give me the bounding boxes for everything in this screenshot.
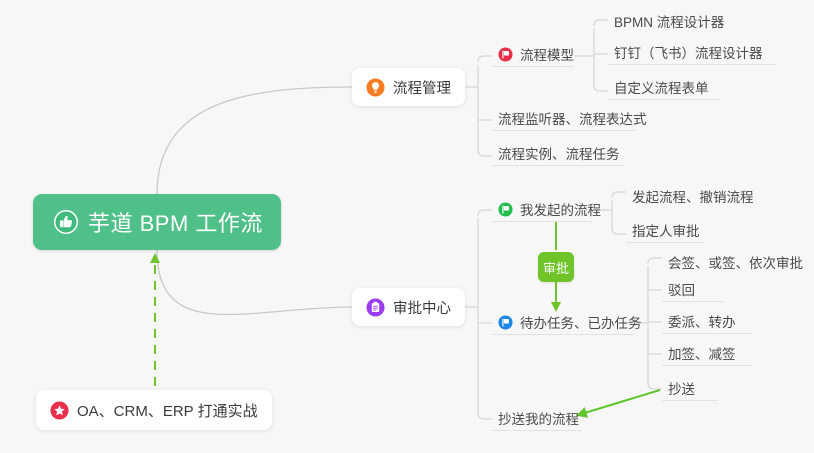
node-label-add-remove-sign: 加签、减签 [668,348,736,362]
node-label-delegate-transfer: 委派、转办 [668,316,736,330]
flag-icon [498,47,513,62]
node-process-model[interactable]: 流程模型 [492,41,574,67]
node-label-todo-done-tasks: 待办任务、已办任务 [520,317,642,331]
node-delegate-transfer[interactable]: 委派、转办 [662,308,752,334]
node-add-remove-sign[interactable]: 加签、减签 [662,340,752,366]
node-label-reject: 驳回 [668,284,695,298]
branch-node-process-management[interactable]: 流程管理 [352,68,465,106]
flag-icon [498,202,513,217]
node-label-assignee-approval: 指定人审批 [632,225,700,239]
node-cc[interactable]: 抄送 [662,375,718,401]
node-label-my-initiated: 我发起的流程 [520,204,601,218]
mindmap-canvas: 芋道 BPM 工作流 流程管理 流程模型 BPMN 流程设计器 钉钉（飞书 [0,0,814,453]
node-label-process-model: 流程模型 [520,49,574,63]
node-dingtalk-designer[interactable]: 钉钉（飞书）流程设计器 [608,39,776,65]
lightbulb-icon [366,78,385,97]
root-label: 芋道 BPM 工作流 [88,206,263,238]
node-assignee-approval[interactable]: 指定人审批 [626,217,704,243]
node-countersign[interactable]: 会签、或签、依次审批 [662,248,798,274]
node-start-cancel-process[interactable]: 发起流程、撤销流程 [626,182,748,208]
approval-arrow-label: 审批 [538,252,574,282]
node-label-process-instance: 流程实例、流程任务 [498,148,620,162]
star-icon [50,401,69,420]
node-bpmn-designer[interactable]: BPMN 流程设计器 [608,7,764,33]
branch-node-approval-center[interactable]: 审批中心 [352,288,465,326]
node-process-listener[interactable]: 流程监听器、流程表达式 [492,105,636,131]
node-label-countersign: 会签、或签、依次审批 [668,257,803,271]
node-label-cc-to-me: 抄送我的流程 [498,413,579,427]
node-custom-form[interactable]: 自定义流程表单 [608,74,720,100]
floating-node-oa-crm-erp[interactable]: OA、CRM、ERP 打通实战 [36,390,272,430]
node-label-cc: 抄送 [668,383,695,397]
node-label-start-cancel-process: 发起流程、撤销流程 [632,191,754,205]
node-label-process-listener: 流程监听器、流程表达式 [498,113,647,127]
branch-label-process-management: 流程管理 [393,77,451,98]
node-my-initiated[interactable]: 我发起的流程 [492,196,592,222]
flag-icon [498,315,513,330]
thumbs-up-icon [53,209,79,235]
node-label-custom-form: 自定义流程表单 [614,82,709,96]
floating-label-oa-crm-erp: OA、CRM、ERP 打通实战 [77,400,258,421]
node-cc-to-me[interactable]: 抄送我的流程 [492,405,582,431]
node-label-bpmn-designer: BPMN 流程设计器 [614,16,724,30]
node-process-instance[interactable]: 流程实例、流程任务 [492,140,624,166]
branch-label-approval-center: 审批中心 [393,297,451,318]
node-reject[interactable]: 驳回 [662,276,724,302]
node-todo-done-tasks[interactable]: 待办任务、已办任务 [492,309,634,335]
clipboard-icon [366,298,385,317]
root-node[interactable]: 芋道 BPM 工作流 [33,194,281,250]
node-label-dingtalk-designer: 钉钉（飞书）流程设计器 [614,47,763,61]
